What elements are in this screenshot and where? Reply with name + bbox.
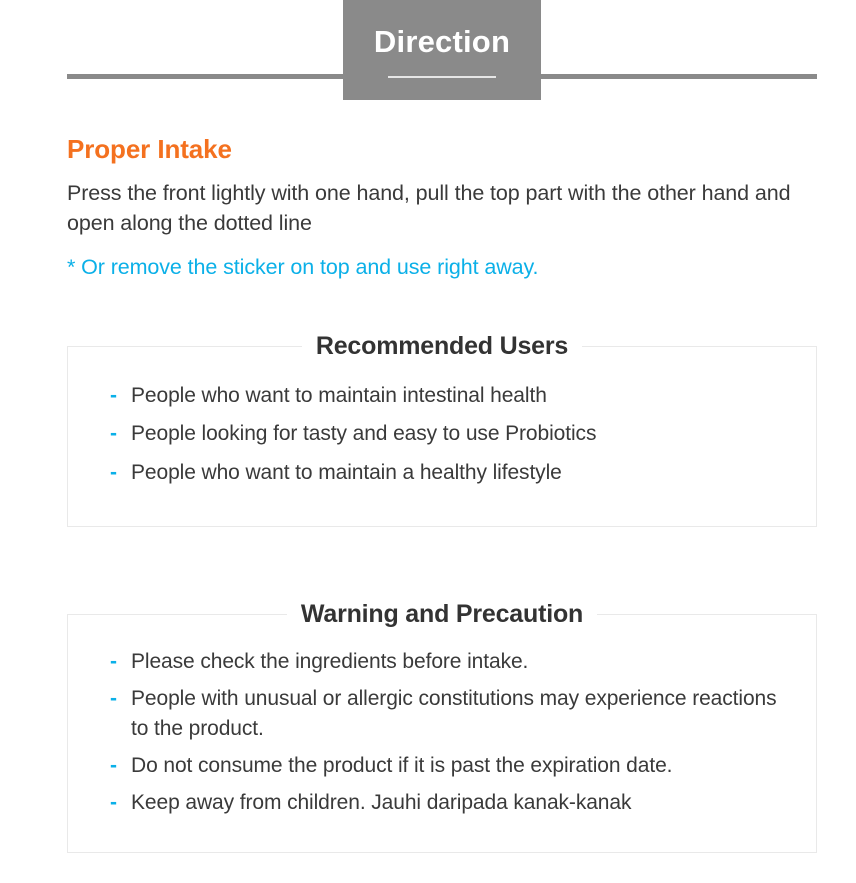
proper-intake-note: * Or remove the sticker on top and use r… [67, 252, 817, 282]
list-item: - People who want to maintain intestinal… [68, 381, 816, 410]
proper-intake-block: Proper Intake Press the front lightly wi… [0, 135, 856, 282]
list-item-label: People looking for tasty and easy to use… [131, 419, 796, 448]
dash-bullet-icon: - [110, 684, 131, 713]
recommended-users-panel: Recommended Users - People who want to m… [67, 334, 817, 527]
list-item: - People with unusual or allergic consti… [68, 684, 816, 743]
list-item-label: People who want to maintain intestinal h… [131, 381, 796, 410]
warning-precaution-list: - Please check the ingredients before in… [68, 647, 816, 818]
header-tab: Direction [343, 0, 541, 100]
list-item: - Please check the ingredients before in… [68, 647, 816, 676]
dash-bullet-icon: - [110, 458, 131, 487]
list-item: - People looking for tasty and easy to u… [68, 419, 816, 448]
list-item: - Do not consume the product if it is pa… [68, 751, 816, 780]
dash-bullet-icon: - [110, 788, 131, 817]
proper-intake-title: Proper Intake [67, 135, 817, 164]
section-header: Direction [0, 0, 856, 100]
proper-intake-description: Press the front lightly with one hand, p… [67, 178, 807, 239]
header-tab-underline [388, 76, 496, 78]
list-item: - Keep away from children. Jauhi daripad… [68, 788, 816, 817]
recommended-users-body: - People who want to maintain intestinal… [68, 359, 816, 526]
list-item-label: People who want to maintain a healthy li… [131, 458, 796, 487]
dash-bullet-icon: - [110, 419, 131, 448]
dash-bullet-icon: - [110, 381, 131, 410]
warning-precaution-legend: Warning and Precaution [287, 602, 597, 627]
list-item: - People who want to maintain a healthy … [68, 458, 816, 487]
warning-precaution-panel: Warning and Precaution - Please check th… [67, 602, 817, 853]
list-item-label: Please check the ingredients before inta… [131, 647, 796, 676]
list-item-label: Do not consume the product if it is past… [131, 751, 796, 780]
recommended-users-legend: Recommended Users [302, 334, 582, 359]
page-title: Direction [343, 0, 541, 57]
dash-bullet-icon: - [110, 647, 131, 676]
list-item-label: People with unusual or allergic constitu… [131, 684, 796, 743]
warning-precaution-body: - Please check the ingredients before in… [68, 627, 816, 852]
list-item-label: Keep away from children. Jauhi daripada … [131, 788, 796, 817]
dash-bullet-icon: - [110, 751, 131, 780]
recommended-users-list: - People who want to maintain intestinal… [68, 381, 816, 487]
